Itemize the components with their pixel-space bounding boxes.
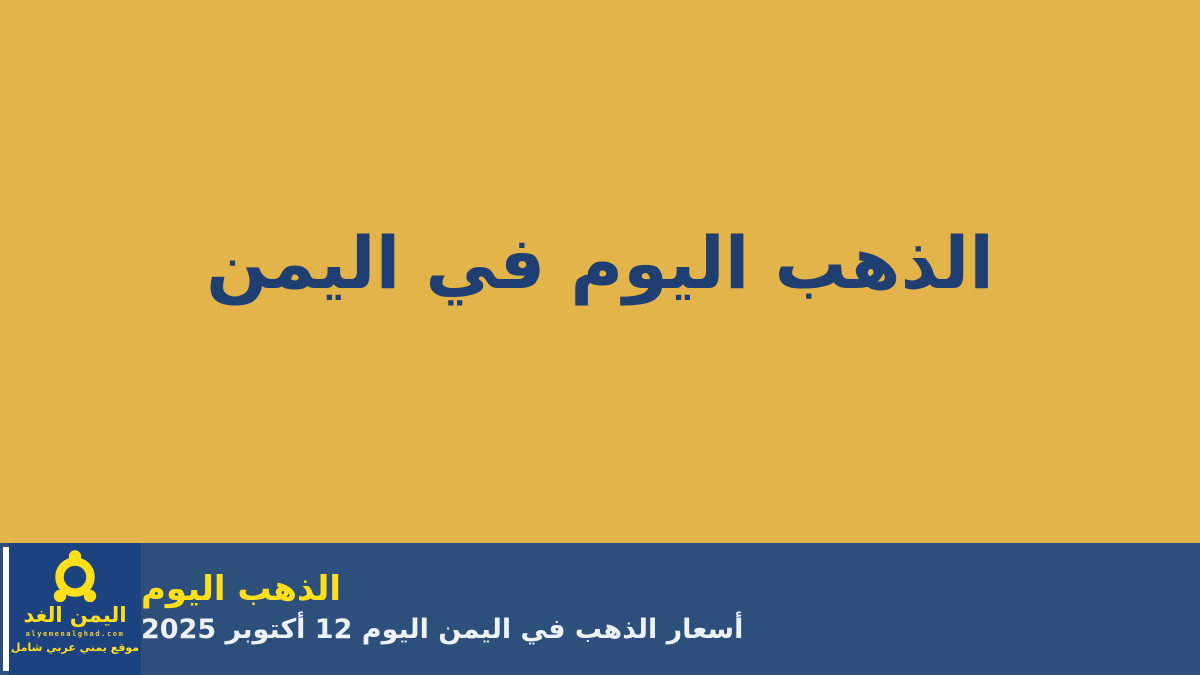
logo-url: alyemenalghad.com <box>26 631 125 638</box>
logo-tagline: موقع يمني عربي شامل <box>11 642 139 653</box>
footer-text-block: الذهب اليوم أسعار الذهب في اليمن اليوم 1… <box>141 543 1200 675</box>
page-title: الذهب اليوم في اليمن <box>206 222 994 305</box>
footer-bar: الذهب اليوم أسعار الذهب في اليمن اليوم 1… <box>0 543 1200 675</box>
yemen-alghad-ring-dots-icon <box>47 550 103 602</box>
site-logo[interactable]: اليمن الغد alyemenalghad.com موقع يمني ع… <box>0 543 141 675</box>
logo-name: اليمن الغد <box>24 605 127 626</box>
logo-box[interactable]: اليمن الغد alyemenalghad.com موقع يمني ع… <box>9 543 141 675</box>
footer-heading: الذهب اليوم <box>141 570 341 608</box>
footer-subtitle: أسعار الذهب في اليمن اليوم 12 أكتوبر 202… <box>141 614 743 646</box>
hero-banner: الذهب اليوم في اليمن <box>0 0 1200 543</box>
